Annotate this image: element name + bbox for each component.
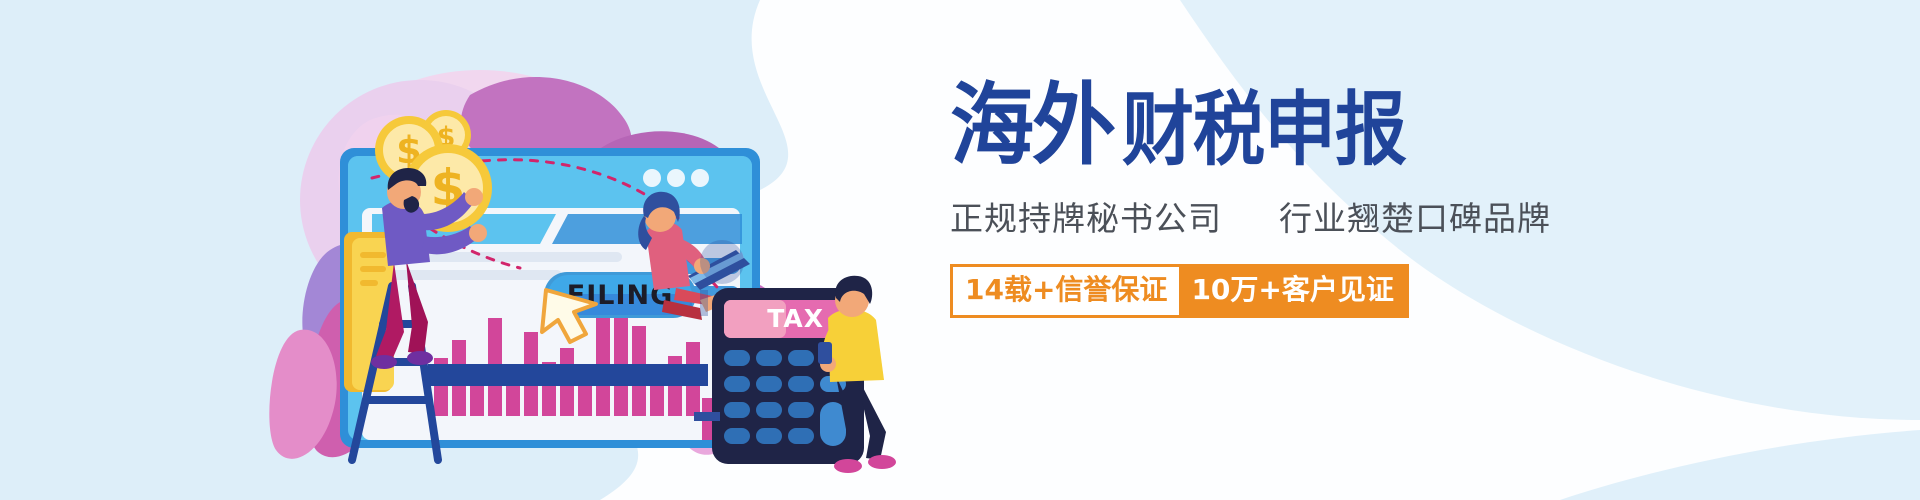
marketing-banner: $ $ $ — [0, 0, 1920, 500]
subtitle: 正规持牌秘书公司 行业翘楚口碑品牌 — [950, 192, 1670, 240]
copy-block: 海外 财税申报 正规持牌秘书公司 行业翘楚口碑品牌 14载+信誉保证 10万+客… — [950, 78, 1670, 378]
illustration: $ $ $ — [0, 0, 950, 500]
headline-part-small: 财税申报 — [1122, 89, 1406, 170]
headline-part-large: 海外 — [950, 81, 1114, 170]
calculator-display-label: TAX — [767, 304, 824, 333]
status-badge-clients: 10万+客户见证 — [1179, 264, 1408, 318]
subtitle-right: 行业翘楚口碑品牌 — [1279, 199, 1551, 238]
badge-group: 14载+信誉保证 10万+客户见证 — [950, 264, 1409, 318]
page-title: 海外 财税申报 — [950, 78, 1670, 170]
status-badge-years: 14载+信誉保证 — [950, 264, 1179, 318]
subtitle-left: 正规持牌秘书公司 — [950, 199, 1222, 238]
